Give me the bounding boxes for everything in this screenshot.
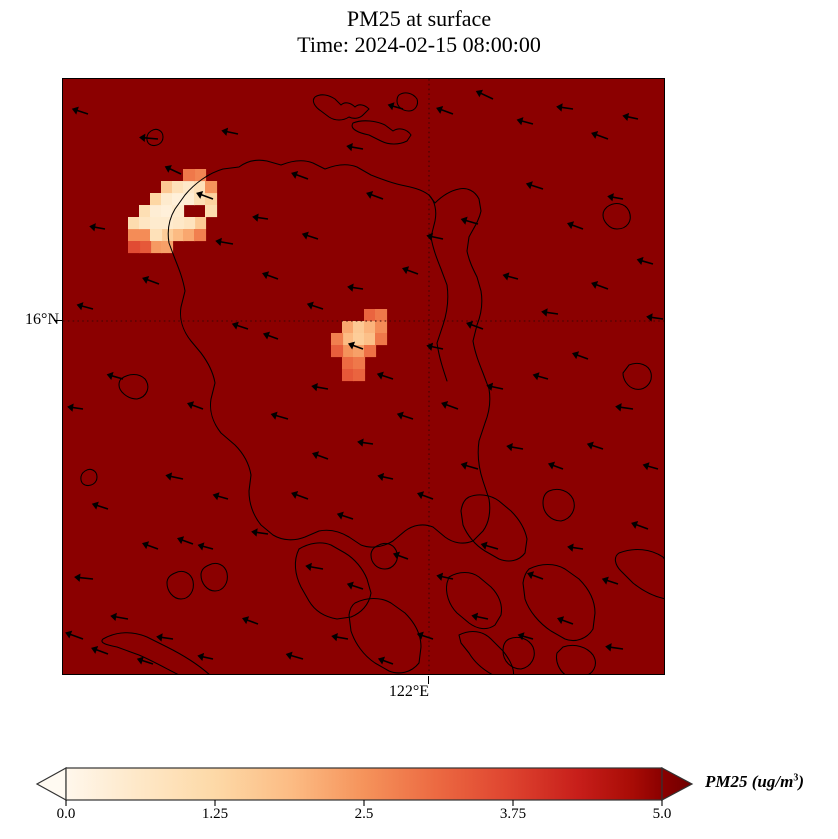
grid-cell (364, 321, 376, 333)
grid-cell (194, 181, 206, 193)
colorbar-tick-0: 0.0 (57, 806, 76, 823)
colorbar-label-close: ) (798, 772, 804, 791)
grid-cell (331, 345, 343, 357)
grid-cell (139, 217, 151, 229)
colorbar-gradient-bar (66, 768, 662, 800)
grid-cell (128, 229, 140, 241)
title-line-time: Time: 2024-02-15 08:00:00 (0, 32, 838, 58)
colorbar-axis-label: PM25 (ug/m3) (705, 772, 804, 792)
grid-cell (205, 181, 217, 193)
colorbar-extend-min (37, 768, 66, 800)
grid-cell (353, 321, 365, 333)
grid-cell (161, 193, 173, 205)
colorbar-tick-2: 2.5 (355, 806, 374, 823)
grid-cell (150, 205, 162, 217)
grid-cell (128, 241, 140, 253)
grid-cell (353, 333, 365, 345)
grid-cell (183, 217, 195, 229)
grid-cell (139, 241, 151, 253)
colorbar-tick-1: 1.25 (202, 806, 228, 823)
axis-tick-label-longitude: 122°E (0, 683, 828, 701)
grid-cell (172, 217, 184, 229)
grid-cell (128, 217, 140, 229)
grid-cell (375, 321, 387, 333)
grid-cell (183, 181, 195, 193)
grid-cell (375, 333, 387, 345)
grid-cell (172, 229, 184, 241)
grid-cell (139, 205, 151, 217)
grid-cell (172, 181, 184, 193)
colorbar-label-main: PM25 (ug/m (705, 772, 793, 791)
colorbar-label-exponent: 3 (793, 772, 798, 783)
grid-cell (150, 217, 162, 229)
grid-cell (205, 205, 217, 217)
grid-cell (161, 241, 173, 253)
grid-cell (183, 169, 195, 181)
map-plot-area[interactable] (62, 78, 665, 675)
chart-title: PM25 at surface Time: 2024-02-15 08:00:0… (0, 6, 838, 58)
grid-cell (161, 229, 173, 241)
colorbar-tick-3: 3.75 (500, 806, 526, 823)
colorbar-tick-4: 5.0 (653, 806, 672, 823)
grid-cell (342, 321, 354, 333)
grid-cell (139, 229, 151, 241)
grid-cell (150, 229, 162, 241)
map-canvas (63, 79, 665, 675)
grid-cell (342, 357, 354, 369)
grid-cell (150, 193, 162, 205)
grid-cell (194, 229, 206, 241)
colorbar-tick-marks (66, 800, 662, 806)
grid-cell (353, 369, 365, 381)
title-line-variable: PM25 at surface (0, 6, 838, 32)
grid-cell (194, 217, 206, 229)
colorbar-extend-max (662, 768, 692, 800)
grid-cell (364, 309, 376, 321)
grid-cell (364, 345, 376, 357)
grid-cell (183, 229, 195, 241)
grid-cell (150, 241, 162, 253)
grid-cell (161, 217, 173, 229)
grid-cell (364, 333, 376, 345)
grid-cell (161, 181, 173, 193)
axis-tick-mark-longitude (428, 676, 429, 684)
grid-cell (342, 369, 354, 381)
grid-cell (375, 309, 387, 321)
grid-cell (331, 333, 343, 345)
axis-tick-mark-latitude (54, 320, 62, 321)
grid-cell (194, 169, 206, 181)
grid-cell (353, 357, 365, 369)
